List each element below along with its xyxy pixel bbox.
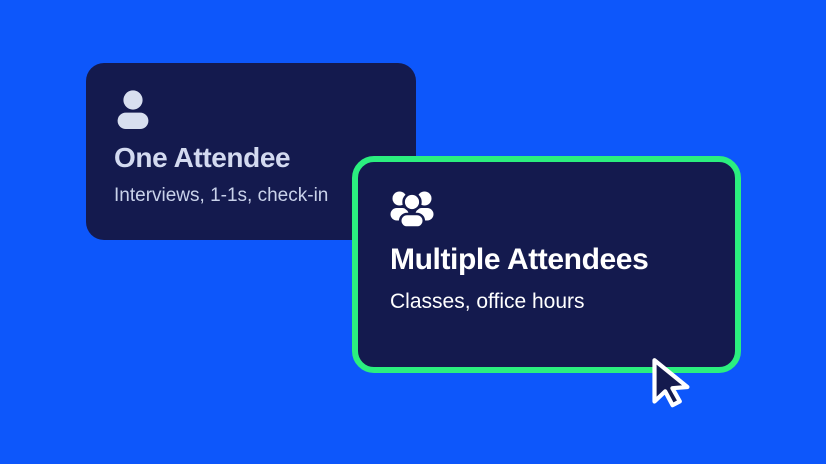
single-person-icon	[114, 89, 388, 129]
card-subtitle: Classes, office hours	[390, 290, 705, 314]
group-people-icon	[390, 188, 705, 228]
card-subtitle: Interviews, 1-1s, check-in	[114, 185, 388, 207]
scene-canvas: One Attendee Interviews, 1-1s, check-in …	[0, 0, 826, 464]
card-title: One Attendee	[114, 143, 388, 172]
card-title: Multiple Attendees	[390, 244, 705, 276]
attendee-option-card-multiple-attendees[interactable]: Multiple Attendees Classes, office hours	[352, 156, 741, 373]
